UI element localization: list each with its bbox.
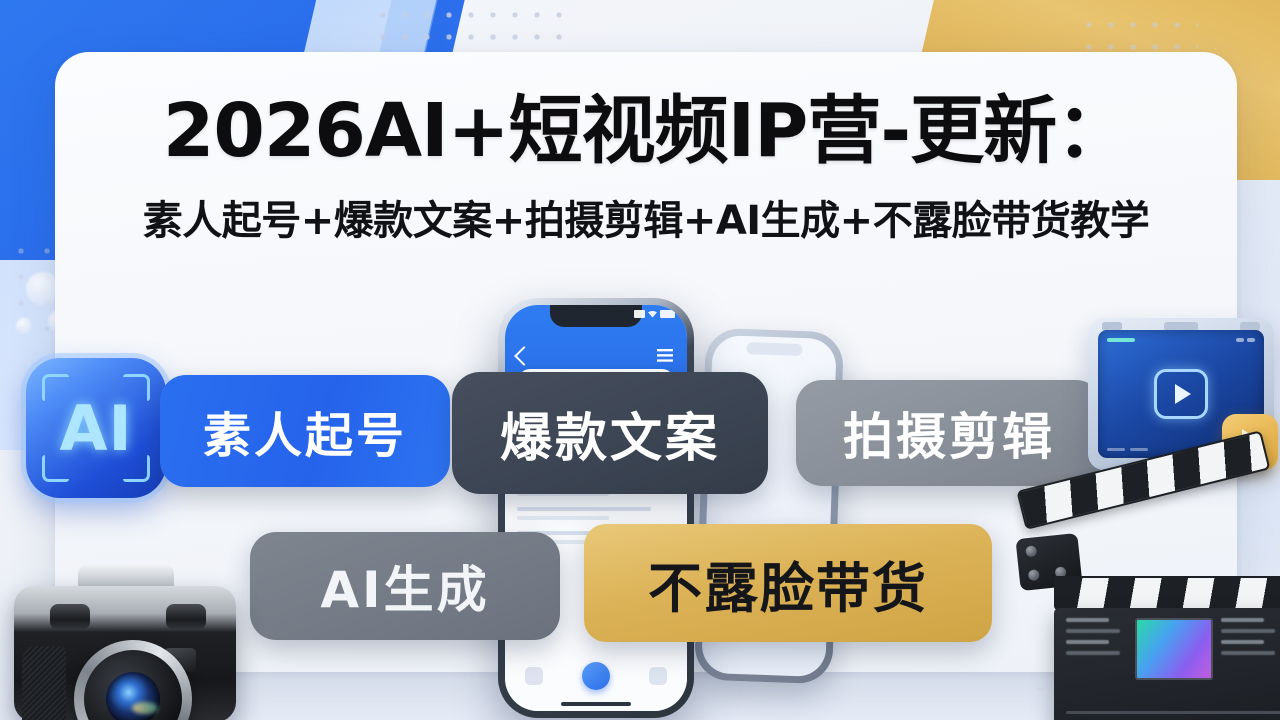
ai-scan-icon: AI bbox=[26, 358, 166, 498]
scan-corner-icon bbox=[123, 374, 150, 401]
tablet-caption-lines bbox=[1107, 448, 1148, 451]
film-clapperboard-icon bbox=[1012, 498, 1280, 720]
play-button-icon[interactable] bbox=[1154, 369, 1208, 419]
home-indicator bbox=[561, 702, 631, 706]
feature-pill-baokuan-wenan[interactable]: 爆款文案 bbox=[452, 372, 768, 494]
scan-corner-icon bbox=[123, 455, 150, 482]
clapper-rule bbox=[1066, 711, 1280, 714]
clapper-stripe bbox=[1054, 576, 1280, 610]
feature-pill-paishe-jianji[interactable]: 拍摄剪辑 bbox=[796, 380, 1102, 486]
back-arrow-icon[interactable] bbox=[514, 346, 534, 366]
phone-notch bbox=[550, 305, 642, 327]
scan-corner-icon bbox=[42, 455, 69, 482]
camera-dial-left bbox=[50, 604, 90, 630]
ai-icon-label: AI bbox=[59, 392, 132, 465]
status-bar bbox=[634, 310, 675, 318]
tab-create-button[interactable] bbox=[582, 662, 610, 690]
wifi-icon bbox=[648, 311, 657, 318]
feature-pill-buluolian-daihuo[interactable]: 不露脸带货 bbox=[584, 524, 992, 642]
clapper-slate bbox=[1054, 608, 1280, 720]
bottom-tab-bar[interactable] bbox=[505, 655, 687, 697]
scan-corner-icon bbox=[42, 374, 69, 401]
hamburger-menu-icon[interactable] bbox=[657, 349, 673, 362]
clapper-fields bbox=[1066, 618, 1280, 680]
phone-notch bbox=[746, 342, 802, 356]
battery-icon bbox=[660, 310, 675, 318]
camera-body bbox=[14, 586, 236, 720]
camera-lens-glass bbox=[106, 672, 160, 720]
clapper-field-right bbox=[1221, 618, 1280, 680]
dslr-camera-icon bbox=[6, 556, 244, 720]
camera-grip bbox=[22, 646, 66, 720]
clapper-field-left bbox=[1066, 618, 1127, 680]
phone-primary-screen bbox=[505, 305, 687, 711]
poster-canvas: 2026AI+短视频IP营-更新： 素人起号+爆款文案+拍摄剪辑+AI生成+不露… bbox=[0, 0, 1280, 720]
signal-icon bbox=[634, 310, 645, 318]
phone-primary bbox=[498, 298, 694, 718]
feature-pill-ai-shengcheng[interactable]: AI生成 bbox=[250, 532, 560, 640]
camera-lens-barrel bbox=[84, 650, 182, 720]
feature-pill-suren-qihao[interactable]: 素人起号 bbox=[160, 375, 450, 487]
bubble-decoration bbox=[16, 318, 32, 334]
list-item-text bbox=[517, 507, 675, 520]
camera-dial-right bbox=[166, 604, 206, 630]
tablet-progress-bar bbox=[1107, 338, 1135, 342]
tablet-status-dots bbox=[1236, 338, 1255, 342]
tab-profile[interactable] bbox=[649, 667, 667, 685]
tab-home[interactable] bbox=[525, 667, 543, 685]
list-item[interactable] bbox=[517, 507, 675, 520]
clapper-preview-screen bbox=[1135, 618, 1213, 680]
camera-lens-flare bbox=[132, 702, 158, 714]
